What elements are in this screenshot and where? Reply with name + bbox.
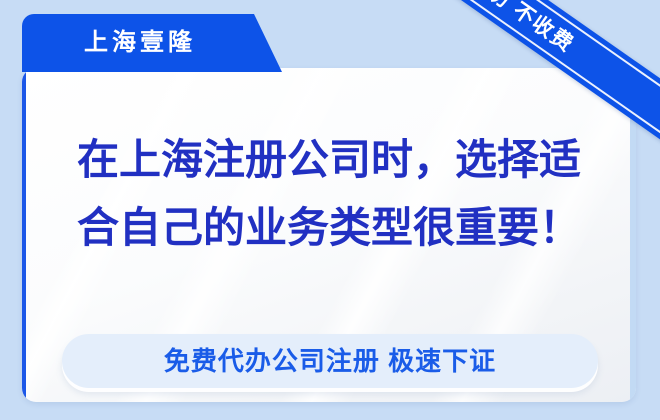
- cta-button[interactable]: 免费代办公司注册 极速下证: [62, 334, 598, 388]
- headline-line-2: 合自己的业务类型很重要！: [32, 194, 626, 262]
- card-left-accent-bar: [22, 68, 26, 402]
- cta-button-label: 免费代办公司注册 极速下证: [164, 348, 496, 374]
- headline-line-1: 在上海注册公司时，选择适: [32, 126, 626, 194]
- brand-tab: 上海壹隆: [22, 14, 282, 72]
- headline: 在上海注册公司时，选择适 合自己的业务类型很重要！: [32, 126, 626, 262]
- brand-tab-label: 上海壹隆: [22, 14, 254, 72]
- promo-banner: 上海壹隆 在上海注册公司时，选择适 合自己的业务类型很重要！ 免费代办公司注册 …: [0, 0, 660, 420]
- content-card: 在上海注册公司时，选择适 合自己的业务类型很重要！ 免费代办公司注册 极速下证: [22, 68, 636, 402]
